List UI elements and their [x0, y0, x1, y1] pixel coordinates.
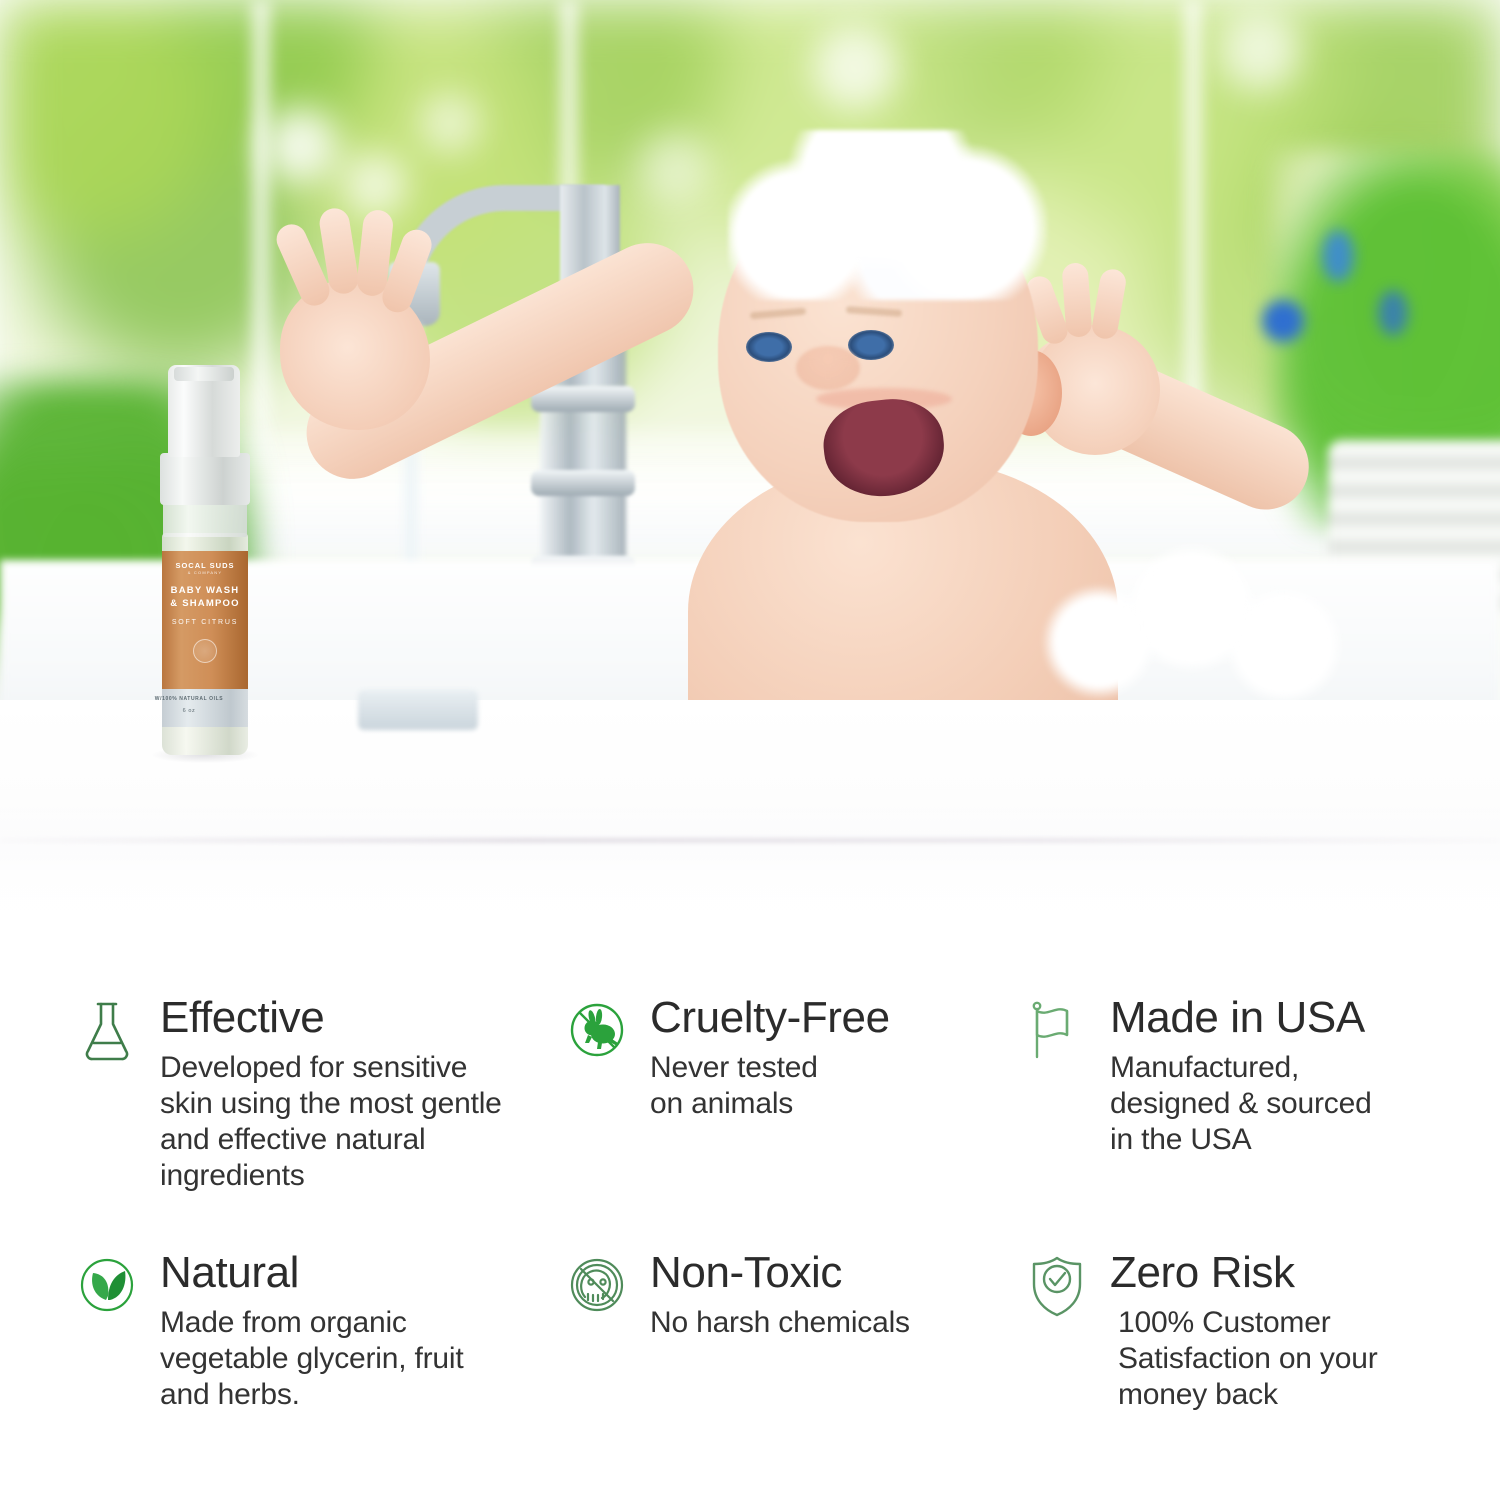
no-skull-icon [568, 1250, 634, 1500]
citrus-seal-icon [193, 639, 217, 663]
hero-photo: SOCAL SUDS & COMPANY BABY WASH & SHAMPOO… [0, 0, 1500, 960]
feature-natural: Natural Made from organic vegetable glyc… [78, 1250, 568, 1500]
pump-top [174, 367, 234, 381]
no-rabbit-icon [568, 995, 634, 1250]
feature-non-toxic: Non-Toxic No harsh chemicals [568, 1250, 1028, 1500]
shield-check-icon [1028, 1250, 1094, 1500]
bottle-natural-oils-claim: W/100% NATURAL OILS [146, 696, 232, 702]
feature-text: Natural Made from organic vegetable glyc… [160, 1250, 568, 1500]
finger [1090, 267, 1128, 340]
feature-text: Non-Toxic No harsh chemicals [650, 1250, 1028, 1500]
feature-title: Cruelty-Free [650, 995, 1028, 1041]
feature-zero-risk: Zero Risk 100% Customer Satisfaction on … [1028, 1250, 1498, 1500]
feature-title: Effective [160, 995, 568, 1041]
product-listing-image: SOCAL SUDS & COMPANY BABY WASH & SHAMPOO… [0, 0, 1500, 1500]
feature-text: Zero Risk 100% Customer Satisfaction on … [1110, 1250, 1498, 1500]
feature-description: Never tested on animals [650, 1050, 1028, 1122]
photo-white-fade [0, 790, 1500, 960]
feature-made-in-usa: Made in USA Manufactured, designed & sou… [1028, 995, 1498, 1250]
feature-cruelty-free: Cruelty-Free Never tested on animals [568, 995, 1028, 1250]
feature-description: No harsh chemicals [650, 1305, 1028, 1341]
feature-title: Zero Risk [1110, 1250, 1498, 1296]
feature-description: Developed for sensitive skin using the m… [160, 1050, 568, 1194]
flag-icon [1028, 995, 1094, 1250]
bottle-main-label: SOCAL SUDS & COMPANY BABY WASH & SHAMPOO… [162, 551, 248, 689]
feature-effective: Effective Developed for sensitive skin u… [78, 995, 568, 1250]
soap-foam-on-head [728, 130, 1048, 300]
baby-eye-left [746, 332, 792, 362]
bottle-neck [163, 503, 247, 537]
finger [1061, 262, 1092, 338]
feature-text: Effective Developed for sensitive skin u… [160, 995, 568, 1250]
bottle-scent: SOFT CITRUS [162, 619, 248, 626]
blue-flower [1378, 290, 1408, 336]
feature-text: Made in USA Manufactured, designed & sou… [1110, 995, 1498, 1250]
baby-left-hand [280, 280, 430, 430]
baby-nose [796, 346, 860, 390]
feature-title: Made in USA [1110, 995, 1498, 1041]
product-bottle: SOCAL SUDS & COMPANY BABY WASH & SHAMPOO… [146, 365, 264, 755]
flask-icon [78, 995, 144, 1250]
bottle-brand-name: SOCAL SUDS [162, 561, 248, 570]
water-splash-reflection [358, 690, 478, 730]
blue-flower [1322, 230, 1354, 282]
feature-text: Cruelty-Free Never tested on animals [650, 995, 1028, 1250]
feature-title: Natural [160, 1250, 568, 1296]
bottle-size: 6 oz [146, 708, 232, 714]
soap-bubbles [1040, 540, 1370, 710]
bottle-product-line1: BABY WASH [162, 585, 248, 596]
feature-description: Manufactured, designed & sourced in the … [1110, 1050, 1498, 1158]
feature-description: 100% Customer Satisfaction on your money… [1110, 1305, 1498, 1413]
bottle-company-name: & COMPANY [162, 570, 248, 575]
bottle-collar [160, 453, 250, 505]
bottle-product-line2: & SHAMPOO [162, 598, 248, 609]
leaves-icon [78, 1250, 144, 1500]
feature-benefits-grid: Effective Developed for sensitive skin u… [0, 960, 1500, 1500]
blue-flower [1262, 300, 1304, 342]
feature-description: Made from organic vegetable glycerin, fr… [160, 1305, 568, 1413]
feature-title: Non-Toxic [650, 1250, 1028, 1296]
window-mullion-center [556, 0, 582, 200]
